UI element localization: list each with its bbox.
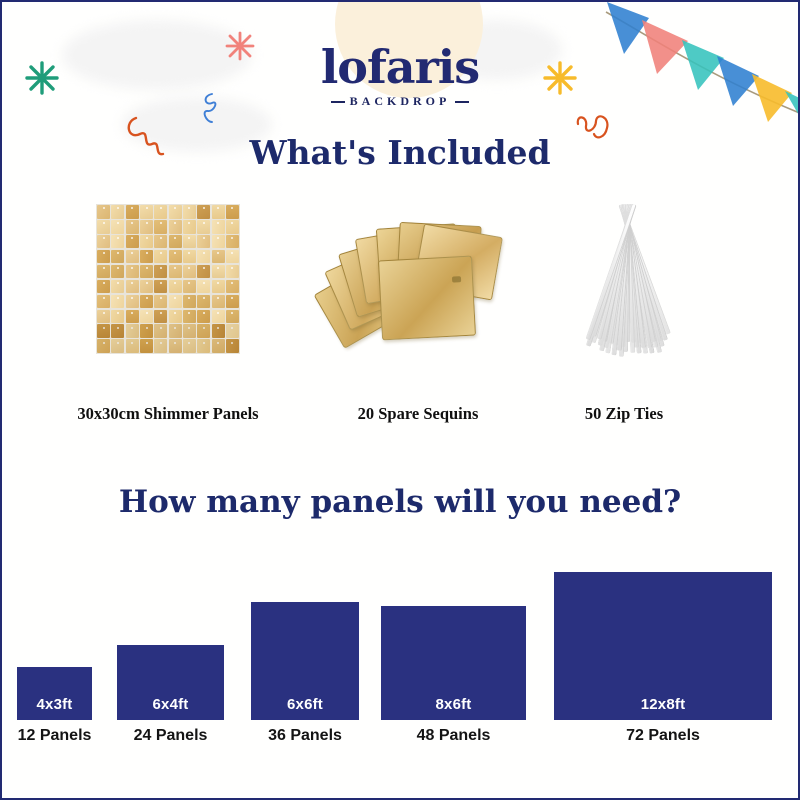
shimmer-sequin [126,205,139,219]
shimmer-sequin [197,220,210,234]
shimmer-sequin [169,250,182,264]
shimmer-sequin [154,310,167,324]
shimmer-sequin [226,265,239,279]
bar-item: 6x4ft24 Panels [117,645,224,720]
shimmer-sequin [111,205,124,219]
shimmer-sequin [126,295,139,309]
bar-count-label: 36 Panels [268,727,342,745]
shimmer-sequin [183,295,196,309]
bar-size-label: 12x8ft [554,696,772,713]
shimmer-panel-grid-icon [96,204,240,354]
panel-size-bar-chart: 4x3ft12 Panels6x4ft24 Panels6x6ft36 Pane… [2,542,800,772]
bar-count-label: 24 Panels [134,727,208,745]
shimmer-sequin [111,324,124,338]
bar-item: 12x8ft72 Panels [554,572,772,720]
shimmer-sequin [140,339,153,353]
shimmer-sequin [126,339,139,353]
shimmer-sequin [169,205,182,219]
shimmer-sequin [97,250,110,264]
gold-sequin-card [378,256,476,341]
shimmer-sequin [97,280,110,294]
sequin-notch [452,276,461,282]
size-bar: 8x6ft [381,606,526,720]
bar-size-label: 6x6ft [251,696,359,713]
shimmer-sequin [154,295,167,309]
shimmer-sequin [212,310,225,324]
section-title-included: What's Included [2,133,798,172]
white-zip-ties-icon [547,204,707,364]
shimmer-sequin [169,324,182,338]
shimmer-sequin [154,220,167,234]
section-title-howmany: How many panels will you need? [2,484,798,520]
shimmer-sequin [111,339,124,353]
shimmer-sequin [197,265,210,279]
size-bar: 4x3ft [17,667,92,720]
shimmer-sequin [197,339,210,353]
shimmer-sequin [97,220,110,234]
shimmer-sequin [226,310,239,324]
shimmer-sequin [111,310,124,324]
size-bar: 6x6ft [251,602,359,720]
shimmer-sequin [154,280,167,294]
shimmer-sequin [126,235,139,249]
shimmer-sequin [197,250,210,264]
shimmer-sequin [111,235,124,249]
shimmer-sequin [97,265,110,279]
shimmer-sequin [97,205,110,219]
shimmer-sequin [212,265,225,279]
bar-item: 8x6ft48 Panels [381,606,526,720]
shimmer-sequin [169,339,182,353]
shimmer-sequin [97,310,110,324]
shimmer-sequin [212,235,225,249]
shimmer-sequin [97,324,110,338]
gold-sequin-cards-icon [320,210,520,360]
shimmer-sequin [169,280,182,294]
shimmer-sequin [140,324,153,338]
shimmer-sequin [97,235,110,249]
shimmer-sequin [111,265,124,279]
tagline-rule-right [455,101,469,103]
brand-tagline-row: BACKDROP [2,94,798,109]
shimmer-sequin [126,310,139,324]
shimmer-sequin [169,235,182,249]
shimmer-sequin [212,339,225,353]
bar-count-label: 48 Panels [417,727,491,745]
shimmer-sequin [183,265,196,279]
shimmer-sequin [212,324,225,338]
shimmer-sequin [126,220,139,234]
shimmer-sequin [226,250,239,264]
size-bar: 12x8ft [554,572,772,720]
shimmer-sequin [183,235,196,249]
product-caption: 20 Spare Sequins [358,404,479,424]
shimmer-sequin [169,310,182,324]
shimmer-sequin [226,235,239,249]
shimmer-sequin [197,235,210,249]
shimmer-sequin [140,265,153,279]
shimmer-sequin [183,310,196,324]
shimmer-sequin [183,220,196,234]
shimmer-sequin [226,295,239,309]
shimmer-sequin [226,205,239,219]
shimmer-sequin [97,295,110,309]
bar-count-label: 72 Panels [626,727,700,745]
shimmer-sequin [97,339,110,353]
bar-item: 4x3ft12 Panels [17,667,92,720]
shimmer-sequin [197,324,210,338]
shimmer-sequin [111,250,124,264]
shimmer-sequin [183,339,196,353]
shimmer-sequin [154,250,167,264]
shimmer-sequin [154,339,167,353]
brand-name: lofaris [2,44,798,90]
shimmer-sequin [111,295,124,309]
size-bar: 6x4ft [117,645,224,720]
shimmer-sequin [169,295,182,309]
shimmer-sequin [226,280,239,294]
tagline-rule-left [331,101,345,103]
shimmer-sequin [197,205,210,219]
bar-count-label: 12 Panels [18,727,92,745]
shimmer-sequin [140,235,153,249]
products-row: 30x30cm Shimmer Panels 20 Spare Sequins … [2,192,800,422]
shimmer-sequin [212,280,225,294]
shimmer-sequin [226,339,239,353]
bar-size-label: 6x4ft [117,696,224,713]
shimmer-sequin [126,265,139,279]
shimmer-sequin [197,310,210,324]
shimmer-sequin [197,280,210,294]
shimmer-sequin [226,220,239,234]
shimmer-sequin [212,205,225,219]
product-caption: 50 Zip Ties [585,404,663,424]
brand-tagline: BACKDROP [350,94,451,109]
shimmer-sequin [126,280,139,294]
shimmer-sequin [197,295,210,309]
shimmer-sequin [126,250,139,264]
shimmer-sequin [111,280,124,294]
shimmer-sequin [140,295,153,309]
shimmer-sequin [183,205,196,219]
shimmer-sequin [226,324,239,338]
shimmer-sequin [183,280,196,294]
shimmer-sequin [140,220,153,234]
shimmer-sequin [183,250,196,264]
shimmer-sequin [126,324,139,338]
shimmer-sequin [169,220,182,234]
bar-size-label: 8x6ft [381,696,526,713]
brand-logo: lofaris BACKDROP [2,44,798,109]
shimmer-sequin [154,235,167,249]
bar-item: 6x6ft36 Panels [251,602,359,720]
shimmer-sequin [140,310,153,324]
shimmer-sequin [140,205,153,219]
shimmer-sequin [212,220,225,234]
shimmer-sequin [140,280,153,294]
shimmer-sequin [140,250,153,264]
shimmer-sequin [154,205,167,219]
shimmer-sequin [183,324,196,338]
shimmer-sequin [212,250,225,264]
product-caption: 30x30cm Shimmer Panels [77,404,258,424]
shimmer-sequin [169,265,182,279]
shimmer-sequin [212,295,225,309]
bar-size-label: 4x3ft [17,696,92,713]
shimmer-sequin [111,220,124,234]
shimmer-sequin [154,265,167,279]
shimmer-sequin [154,324,167,338]
infographic-page: lofaris BACKDROP [0,0,800,800]
